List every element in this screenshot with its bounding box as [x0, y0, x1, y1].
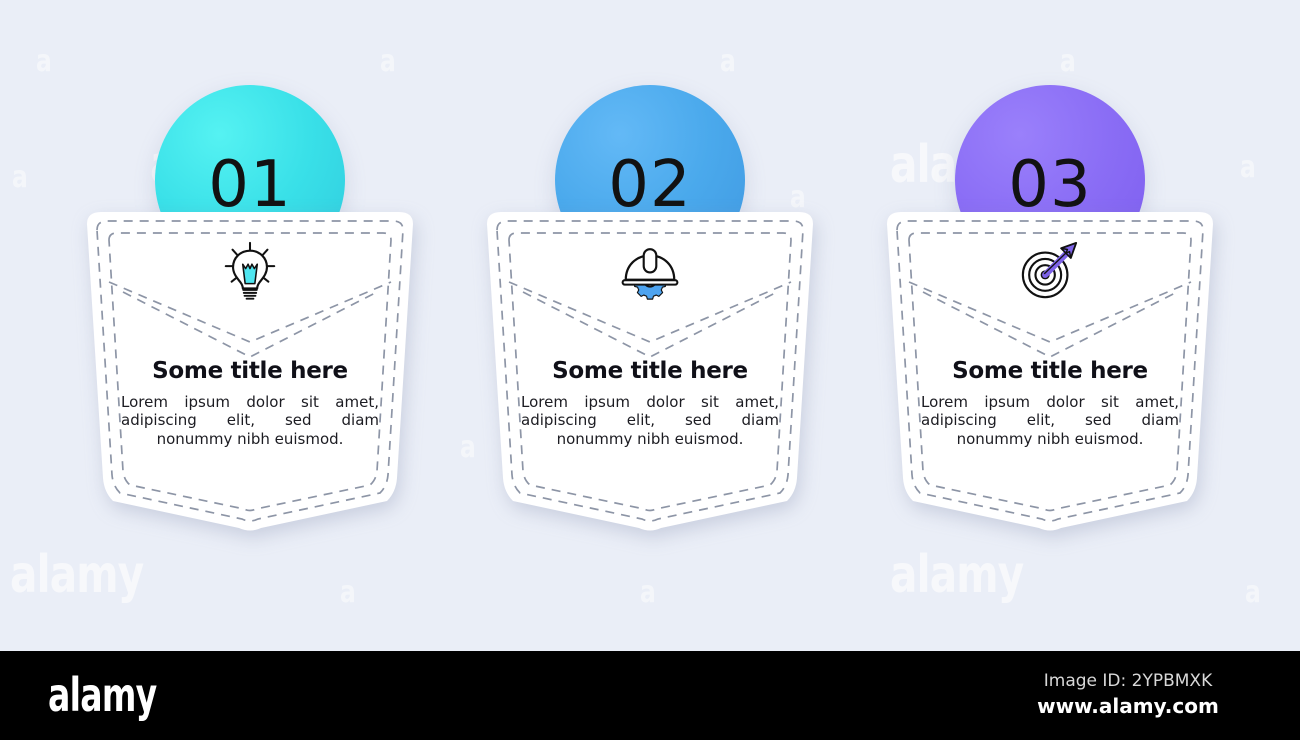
- background-watermark-letter: a: [380, 44, 395, 79]
- step-number-1: 01: [208, 153, 291, 217]
- card-icon-slot-3: [875, 240, 1225, 302]
- card-description-2: Lorem ipsum dolor sit amet, adipiscing e…: [515, 393, 785, 448]
- step-number-3: 03: [1008, 153, 1091, 217]
- card-text-3: Some title here Lorem ipsum dolor sit am…: [915, 358, 1185, 448]
- background-watermark-letter: a: [36, 44, 51, 79]
- step-number-2: 02: [608, 153, 691, 217]
- alamy-footer-bar: alamy Image ID: 2YPBMXK www.alamy.com: [0, 651, 1300, 740]
- alamy-logo: alamy: [48, 668, 157, 722]
- card-description-1: Lorem ipsum dolor sit amet, adipiscing e…: [115, 393, 385, 448]
- footer-meta: Image ID: 2YPBMXK www.alamy.com: [998, 671, 1258, 718]
- safety-helmet-gear-icon: [619, 240, 681, 302]
- background-watermark-letter: a: [1245, 575, 1260, 610]
- infographic-step-card-1[interactable]: 01: [70, 85, 430, 535]
- background-watermark: alamy: [890, 545, 1023, 605]
- card-title-3: Some title here: [915, 358, 1185, 384]
- infographic-step-card-2[interactable]: 02: [470, 85, 830, 535]
- background-watermark-letter: a: [720, 44, 735, 79]
- card-title-2: Some title here: [515, 358, 785, 384]
- card-text-2: Some title here Lorem ipsum dolor sit am…: [515, 358, 785, 448]
- lightbulb-icon: [219, 240, 281, 302]
- target-arrow-icon: [1018, 240, 1082, 302]
- image-id-label: Image ID: 2YPBMXK: [998, 671, 1258, 691]
- card-icon-slot-2: [475, 240, 825, 302]
- background-watermark-letter: a: [1240, 150, 1255, 185]
- card-text-1: Some title here Lorem ipsum dolor sit am…: [115, 358, 385, 448]
- card-title-1: Some title here: [115, 358, 385, 384]
- background-watermark-letter: a: [1060, 44, 1075, 79]
- infographic-stage: a a a a a a alamy alamy a a a alamy alam…: [0, 0, 1300, 651]
- alamy-url: www.alamy.com: [998, 694, 1258, 718]
- card-icon-slot-1: [75, 240, 425, 302]
- background-watermark-letter: a: [640, 575, 655, 610]
- background-watermark-letter: a: [340, 575, 355, 610]
- card-description-3: Lorem ipsum dolor sit amet, adipiscing e…: [915, 393, 1185, 448]
- background-watermark: alamy: [10, 545, 143, 605]
- background-watermark-letter: a: [12, 160, 27, 195]
- infographic-step-card-3[interactable]: 03: [870, 85, 1230, 535]
